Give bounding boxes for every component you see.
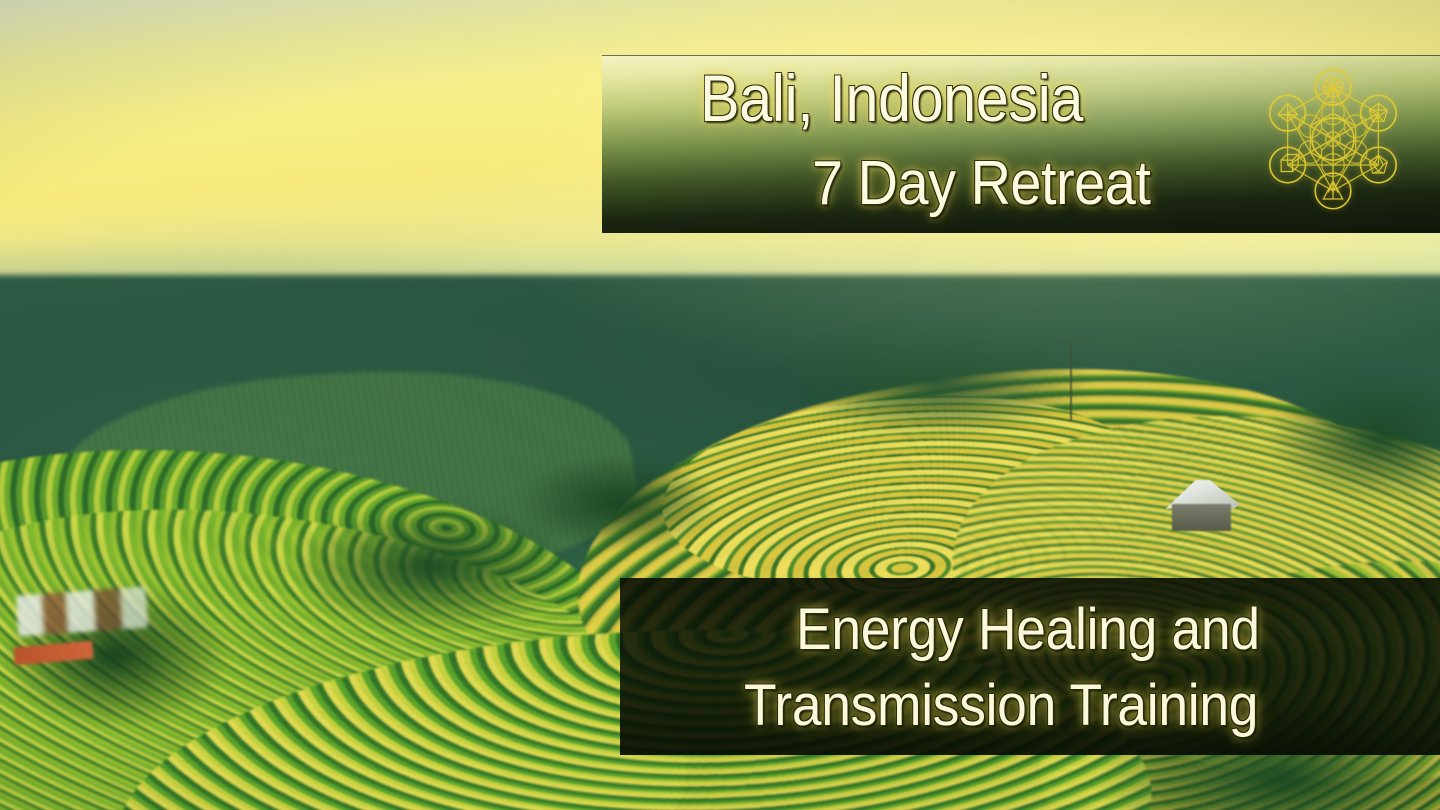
utility-pole	[1070, 340, 1072, 421]
metatrons-cube-icon	[1252, 62, 1414, 234]
field-hut-body	[1172, 504, 1231, 532]
headline-location: Bali, Indonesia	[700, 60, 1083, 136]
metatrons-cube-logo	[1252, 62, 1414, 234]
subtitle-line-1: Energy Healing and	[796, 596, 1260, 663]
tree-clump-2	[518, 454, 720, 551]
headline-duration: 7 Day Retreat	[812, 148, 1150, 219]
retreat-banner: Bali, Indonesia 7 Day Retreat	[0, 0, 1440, 810]
subtitle-line-2: Transmission Training	[744, 672, 1258, 739]
tree-clump-3	[778, 324, 1095, 437]
